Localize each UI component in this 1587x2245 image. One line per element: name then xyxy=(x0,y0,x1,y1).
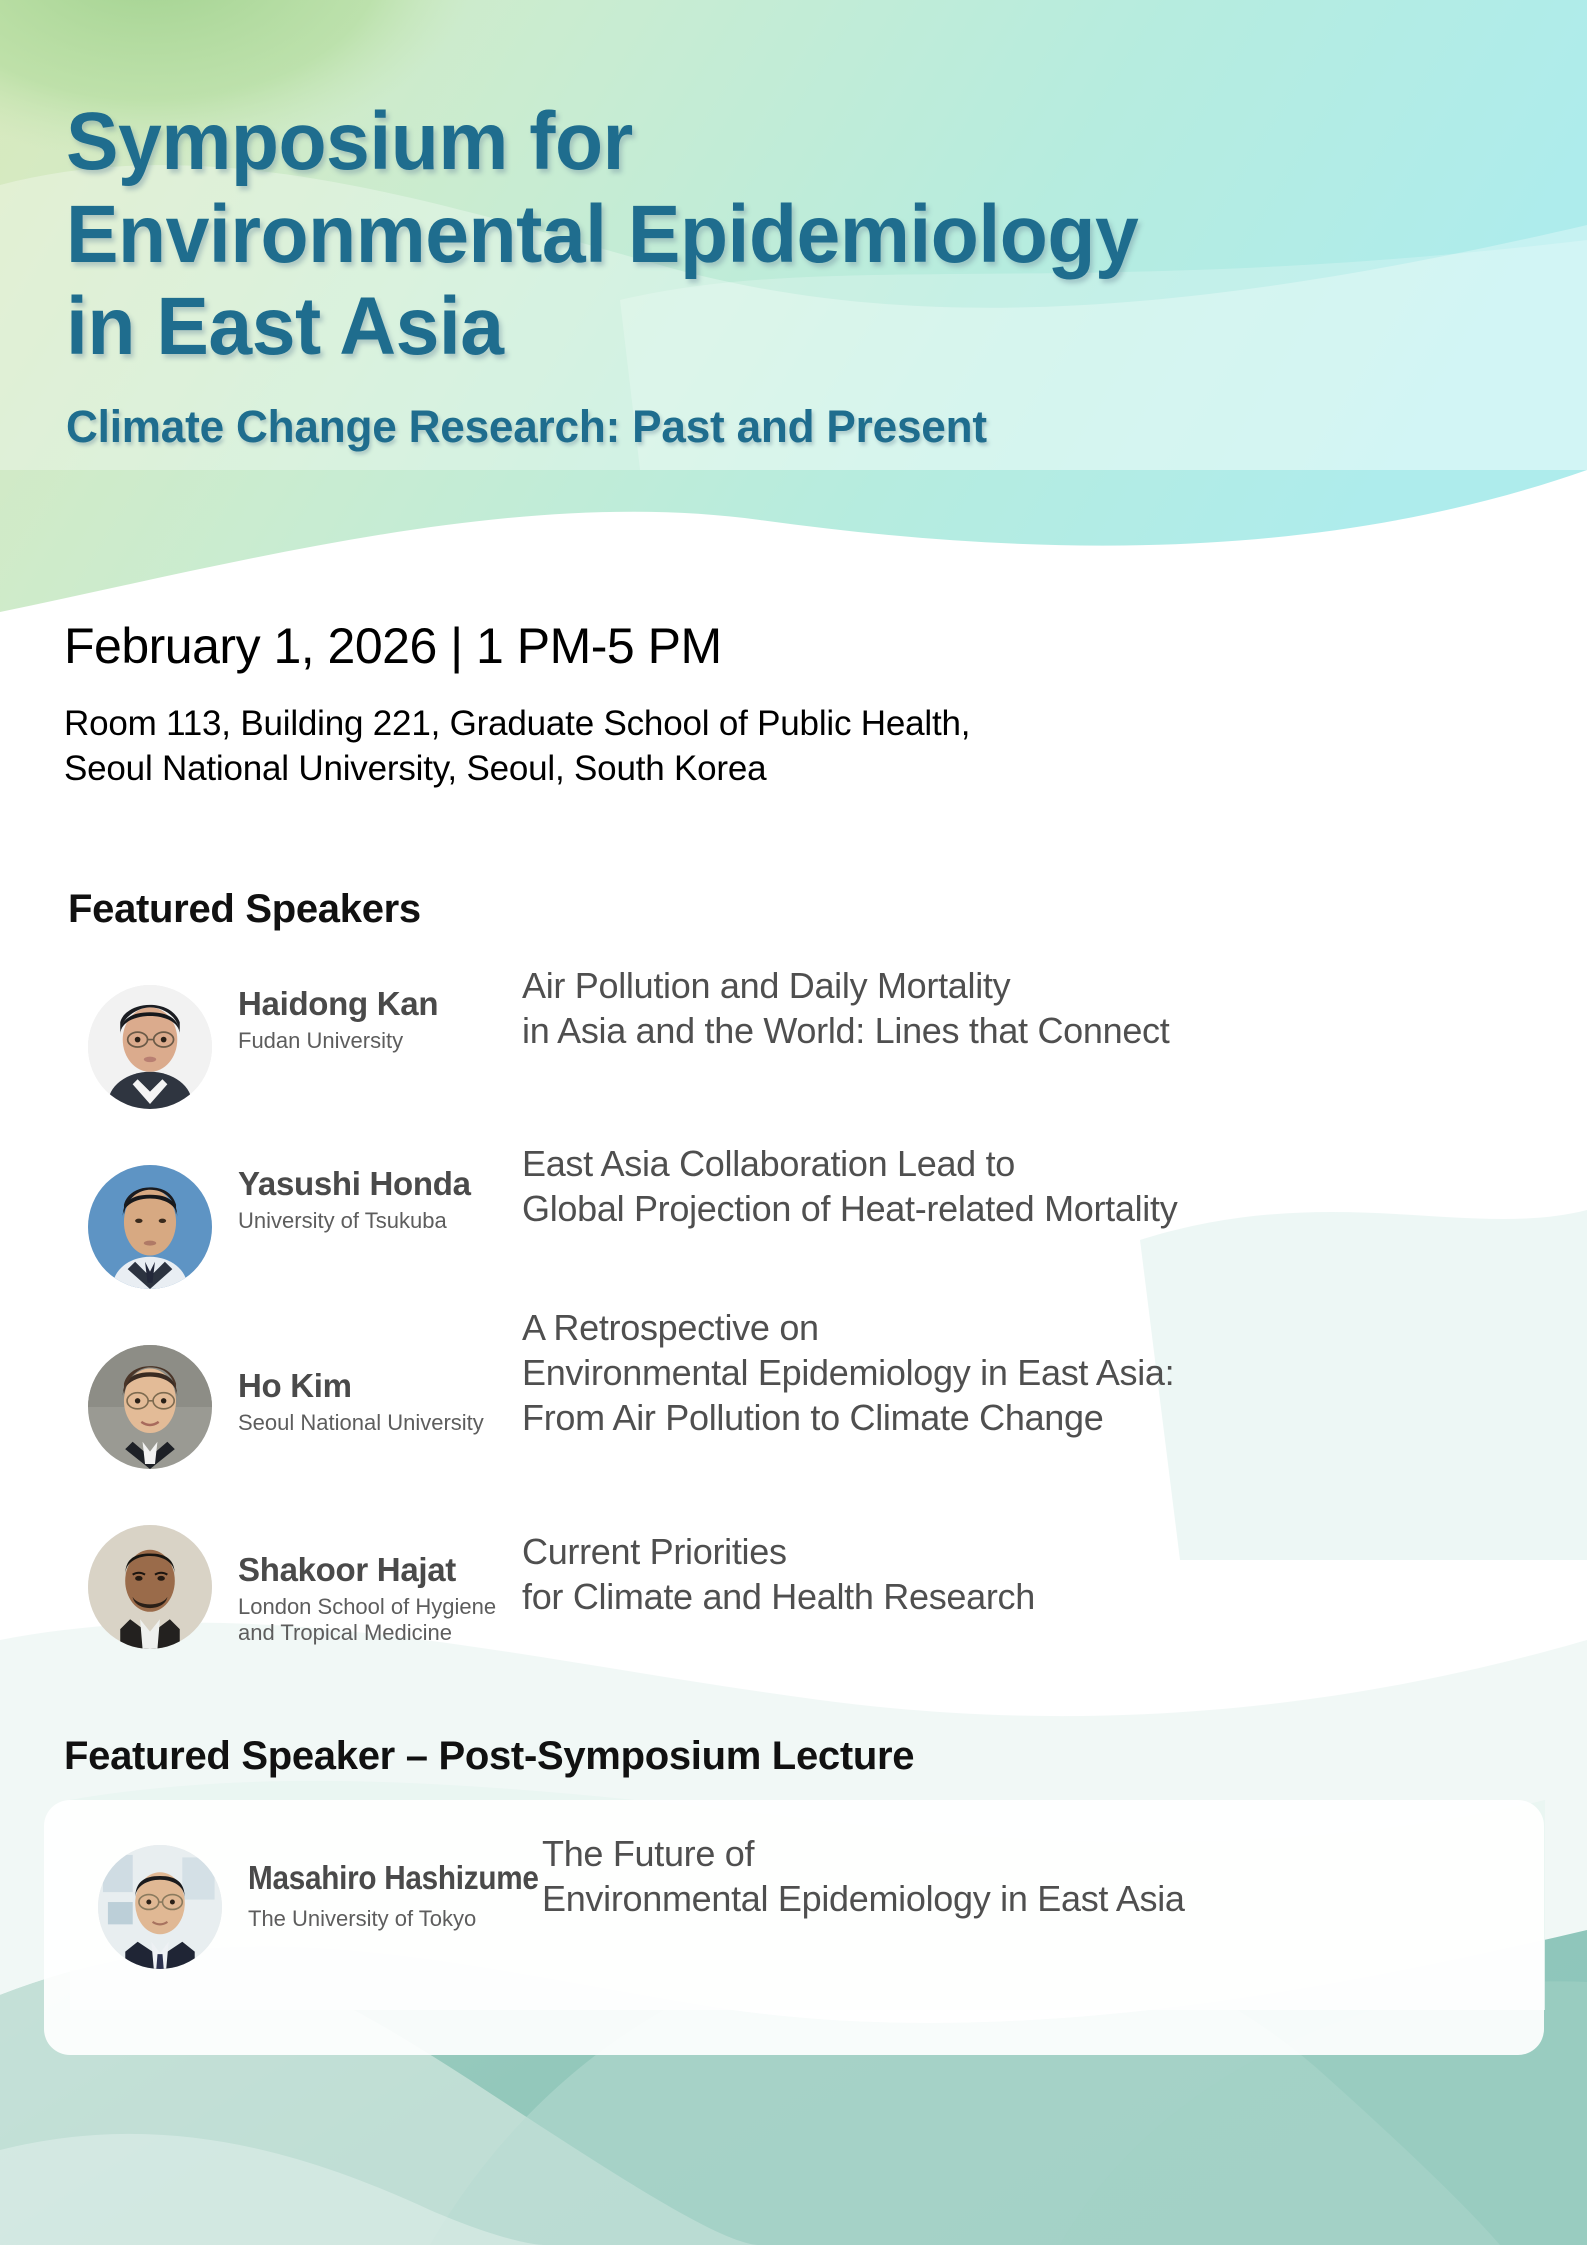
speaker-row: Haidong Kan Fudan University Air Polluti… xyxy=(88,985,1548,1109)
speaker-talk-title: The Future of Environmental Epidemiology… xyxy=(542,1831,1185,1921)
speaker-affiliation: The University of Tokyo xyxy=(248,1906,542,1932)
page-title: Symposium forEnvironmental Epidemiologyi… xyxy=(66,96,1487,374)
speaker-talk-title: A Retrospective on Environmental Epidemi… xyxy=(522,1305,1174,1440)
featured-speakers-heading: Featured Speakers xyxy=(68,887,421,932)
event-datetime: February 1, 2026 | 1 PM-5 PM xyxy=(64,617,722,675)
avatar xyxy=(88,1165,212,1289)
speaker-row: Shakoor Hajat London School of Hygiene a… xyxy=(88,1525,1548,1649)
speaker-talk-title: Air Pollution and Daily Mortality in Asi… xyxy=(522,963,1169,1053)
speaker-name: Yasushi Honda xyxy=(238,1165,522,1203)
speaker-row: Yasushi Honda University of Tsukuba East… xyxy=(88,1165,1548,1289)
speaker-affiliation: Seoul National University xyxy=(238,1410,522,1436)
portrait-yasushi-honda-image xyxy=(88,1165,212,1289)
speaker-identity: Haidong Kan Fudan University xyxy=(212,985,522,1054)
portrait-shakoor-hajat-image xyxy=(88,1525,212,1649)
poster-content: Symposium forEnvironmental Epidemiologyi… xyxy=(0,0,1587,2245)
event-venue: Room 113, Building 221, Graduate School … xyxy=(64,702,970,792)
speaker-talk-title: Current Priorities for Climate and Healt… xyxy=(522,1529,1035,1619)
avatar xyxy=(98,1845,222,1969)
speaker-identity: Yasushi Honda University of Tsukuba xyxy=(212,1165,522,1234)
avatar xyxy=(88,1345,212,1469)
speaker-name: Ho Kim xyxy=(238,1367,522,1405)
speaker-affiliation: Fudan University xyxy=(238,1028,522,1054)
speaker-affiliation: London School of Hygiene and Tropical Me… xyxy=(238,1594,522,1646)
title-block: Symposium forEnvironmental Epidemiologyi… xyxy=(66,96,1546,454)
portrait-haidong-kan-image xyxy=(88,985,212,1109)
speaker-name: Masahiro Hashizume xyxy=(248,1859,513,1897)
footer: SNU ealth Grad xyxy=(0,2060,1587,2245)
speaker-name: Haidong Kan xyxy=(238,985,522,1023)
speaker-name: Shakoor Hajat xyxy=(238,1551,522,1589)
avatar xyxy=(88,1525,212,1649)
post-symposium-speaker-identity: Masahiro Hashizume The University of Tok… xyxy=(222,1845,542,1932)
post-symposium-heading: Featured Speaker – Post-Symposium Lectur… xyxy=(64,1734,914,1779)
poster-root: Symposium forEnvironmental Epidemiologyi… xyxy=(0,0,1587,2245)
speaker-identity: Shakoor Hajat London School of Hygiene a… xyxy=(212,1525,522,1646)
speaker-identity: Ho Kim Seoul National University xyxy=(212,1345,522,1436)
portrait-masahiro-hashizume-image xyxy=(98,1845,222,1969)
subtitle: Climate Change Research: Past and Presen… xyxy=(66,400,1516,454)
speaker-affiliation: University of Tsukuba xyxy=(238,1208,522,1234)
avatar xyxy=(88,985,212,1109)
portrait-ho-kim-image xyxy=(88,1345,212,1469)
post-symposium-speaker-row: Masahiro Hashizume The University of Tok… xyxy=(98,1845,1538,1969)
speaker-row: Ho Kim Seoul National University A Retro… xyxy=(88,1345,1548,1469)
speaker-talk-title: East Asia Collaboration Lead to Global P… xyxy=(522,1141,1177,1231)
